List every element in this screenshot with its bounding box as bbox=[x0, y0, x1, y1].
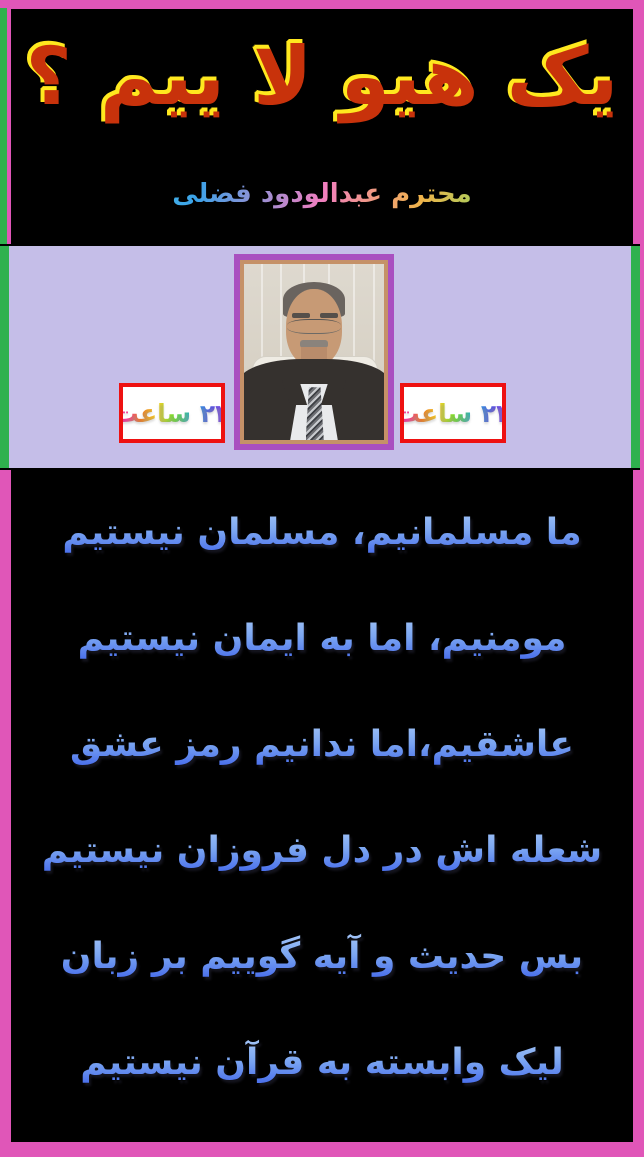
avatar bbox=[244, 264, 384, 440]
poem-panel: ما مسلمانیم، مسلمان نیستیم مومنیم، اما ب… bbox=[0, 470, 644, 1157]
poster-root: یک هیو لا ییم ؟ محترم عبدالودود فضلی bbox=[0, 0, 644, 1157]
author-subtitle: محترم عبدالودود فضلی bbox=[11, 179, 633, 209]
poem-panel-inner: ما مسلمانیم، مسلمان نیستیم مومنیم، اما ب… bbox=[11, 470, 633, 1142]
logo-24-hour-left[interactable]: ۲۴ ساعت bbox=[119, 383, 225, 443]
poem-line: بس حدیث و آیه گوییم بر زبان bbox=[11, 904, 633, 1010]
title-panel: یک هیو لا ییم ؟ محترم عبدالودود فضلی bbox=[0, 0, 644, 244]
logo-24-hour-right[interactable]: ۲۴ ساعت bbox=[400, 383, 506, 443]
photo-panel-green-right bbox=[631, 246, 640, 468]
page-title: یک هیو لا ییم ؟ bbox=[11, 15, 633, 139]
logo-24-hour-right-text: ۲۴ ساعت bbox=[400, 399, 506, 428]
poem-line: مومنیم، اما به ایمان نیستیم bbox=[11, 586, 633, 692]
photo-panel-pink-right bbox=[640, 244, 644, 470]
poem-line: ما مسلمانیم، مسلمان نیستیم bbox=[11, 480, 633, 586]
logo-24-hour-left-text: ۲۴ ساعت bbox=[119, 399, 225, 428]
portrait-frame bbox=[234, 254, 394, 450]
photo-panel-green-left bbox=[0, 246, 9, 468]
title-panel-inner: یک هیو لا ییم ؟ محترم عبدالودود فضلی bbox=[11, 9, 633, 244]
poem-line: لیک وابسته به قرآن نیستیم bbox=[11, 1010, 633, 1116]
poem-line: شعله اش در دل فروزان نیستیم bbox=[11, 798, 633, 904]
portrait-mat bbox=[240, 260, 388, 444]
title-panel-green-edge bbox=[0, 8, 7, 244]
poem-line: عاشقیم،اما ندانیم رمز عشق bbox=[11, 692, 633, 798]
